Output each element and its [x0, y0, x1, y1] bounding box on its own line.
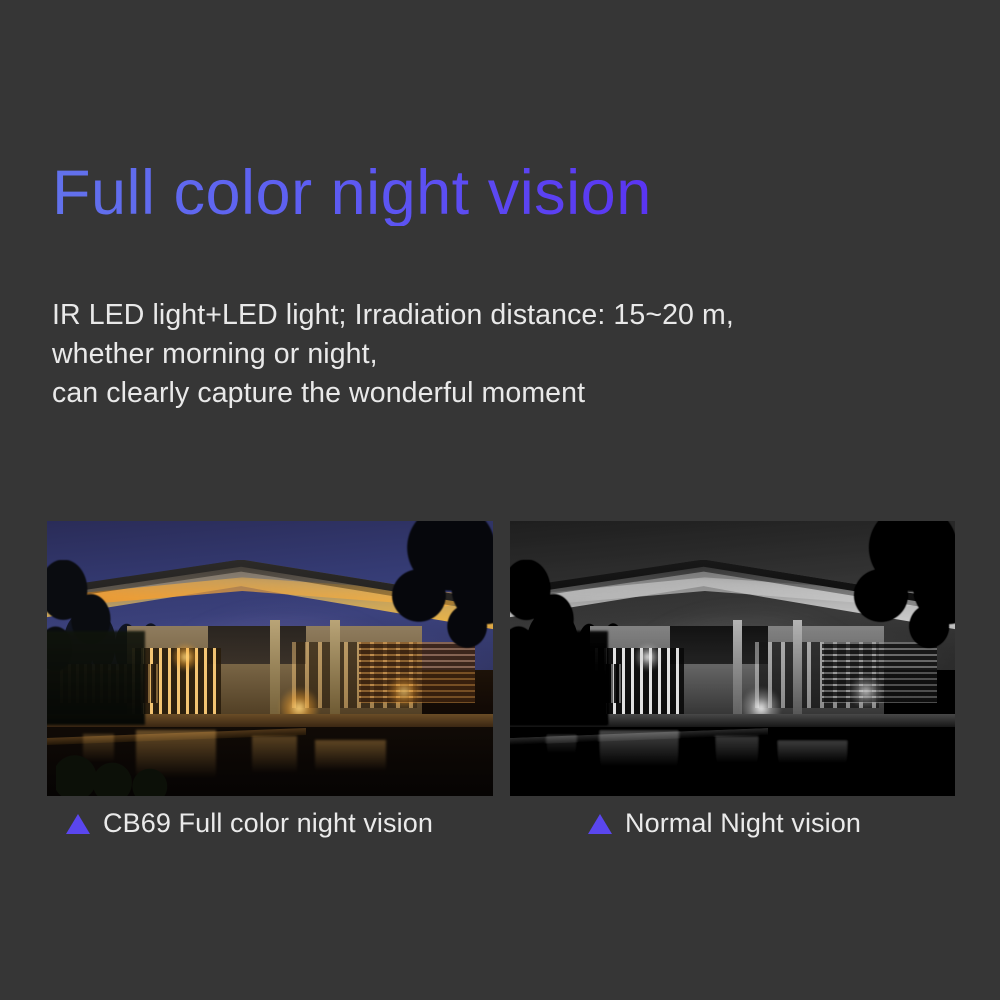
- normal-night-vision-image: [510, 521, 955, 796]
- hedge-left: [510, 631, 608, 725]
- caption-normal-night-vision: Normal Night vision: [588, 808, 861, 839]
- tree-silhouette-right: [830, 521, 955, 681]
- description-line-1: IR LED light+LED light; Irradiation dist…: [52, 296, 952, 335]
- description-line-3: can clearly capture the wonderful moment: [52, 374, 952, 413]
- promo-page: Full color night vision IR LED light+LED…: [0, 0, 1000, 1000]
- caption-label: CB69 Full color night vision: [103, 808, 433, 839]
- scene-grayscale: [510, 521, 955, 796]
- reflection-2: [252, 736, 297, 774]
- description-block: IR LED light+LED light; Irradiation dist…: [52, 296, 952, 413]
- page-title: Full color night vision: [52, 160, 652, 226]
- shrub-row: [56, 736, 190, 797]
- reflection-3: [777, 740, 848, 771]
- triangle-up-icon: [588, 814, 612, 834]
- lamp-glow-2: [172, 642, 199, 672]
- caption-color-night-vision: CB69 Full color night vision: [66, 808, 433, 839]
- color-night-vision-image: [47, 521, 493, 796]
- hedge-left: [47, 631, 145, 725]
- comparison-gallery: [0, 521, 1000, 796]
- shrub-row: [519, 736, 653, 797]
- tree-silhouette-right: [368, 521, 493, 681]
- triangle-up-icon: [66, 814, 90, 834]
- reflection-2: [715, 736, 760, 774]
- description-line-2: whether morning or night,: [52, 335, 952, 374]
- caption-label: Normal Night vision: [625, 808, 861, 839]
- caption-row: CB69 Full color night vision Normal Nigh…: [0, 808, 1000, 852]
- reflection-3: [315, 740, 386, 771]
- scene-color: [47, 521, 493, 796]
